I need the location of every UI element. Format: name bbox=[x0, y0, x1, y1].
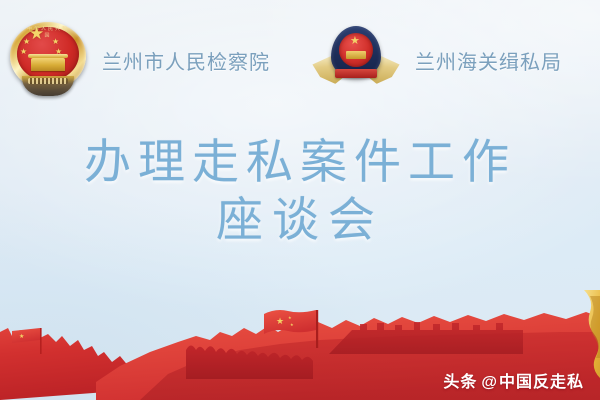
banner-image: 中华人民共和国 ★ ★ ★ ★ 兰州市人民检察院 ★ bbox=[0, 0, 600, 400]
org-name-procuratorate: 兰州市人民检察院 bbox=[102, 46, 270, 75]
org-block-customs: ★ 兰州海关缉私局 bbox=[313, 24, 562, 96]
svg-text:★: ★ bbox=[288, 315, 292, 320]
emblem-ribbon bbox=[335, 69, 377, 78]
svg-text:★: ★ bbox=[19, 333, 24, 340]
watermark-platform: 头条 bbox=[443, 374, 477, 391]
emblem-star-icon: ★ bbox=[350, 36, 360, 47]
org-block-procuratorate: 中华人民共和国 ★ ★ ★ ★ 兰州市人民检察院 bbox=[8, 18, 270, 102]
emblem-base bbox=[22, 76, 74, 96]
emblem-small-star-icon: ★ bbox=[20, 48, 27, 56]
procuratorate-emblem-icon: 中华人民共和国 ★ ★ ★ ★ bbox=[8, 18, 88, 102]
title-line-1: 办理走私案件工作 bbox=[0, 134, 600, 192]
emblem-small-star-icon: ★ bbox=[23, 38, 30, 46]
emblem-tiananmen-gate-icon bbox=[31, 58, 65, 71]
emblem-small-star-icon: ★ bbox=[52, 38, 59, 46]
watermark: 头条@中国反走私 bbox=[443, 368, 584, 392]
title-line-2: 座谈会 bbox=[0, 192, 600, 250]
watermark-account: 中国反走私 bbox=[499, 374, 584, 391]
customs-police-emblem-icon: ★ bbox=[313, 24, 399, 96]
emblem-tiananmen-gate-icon bbox=[346, 51, 366, 59]
main-title: 办理走私案件工作 座谈会 bbox=[0, 134, 600, 250]
org-name-customs: 兰州海关缉私局 bbox=[415, 46, 562, 75]
watermark-at-symbol: @ bbox=[481, 374, 498, 391]
emblem-red-disc: ★ bbox=[339, 33, 373, 67]
header-row: 中华人民共和国 ★ ★ ★ ★ 兰州市人民检察院 ★ bbox=[0, 16, 600, 104]
svg-text:★: ★ bbox=[276, 317, 284, 327]
svg-text:★: ★ bbox=[290, 322, 294, 327]
